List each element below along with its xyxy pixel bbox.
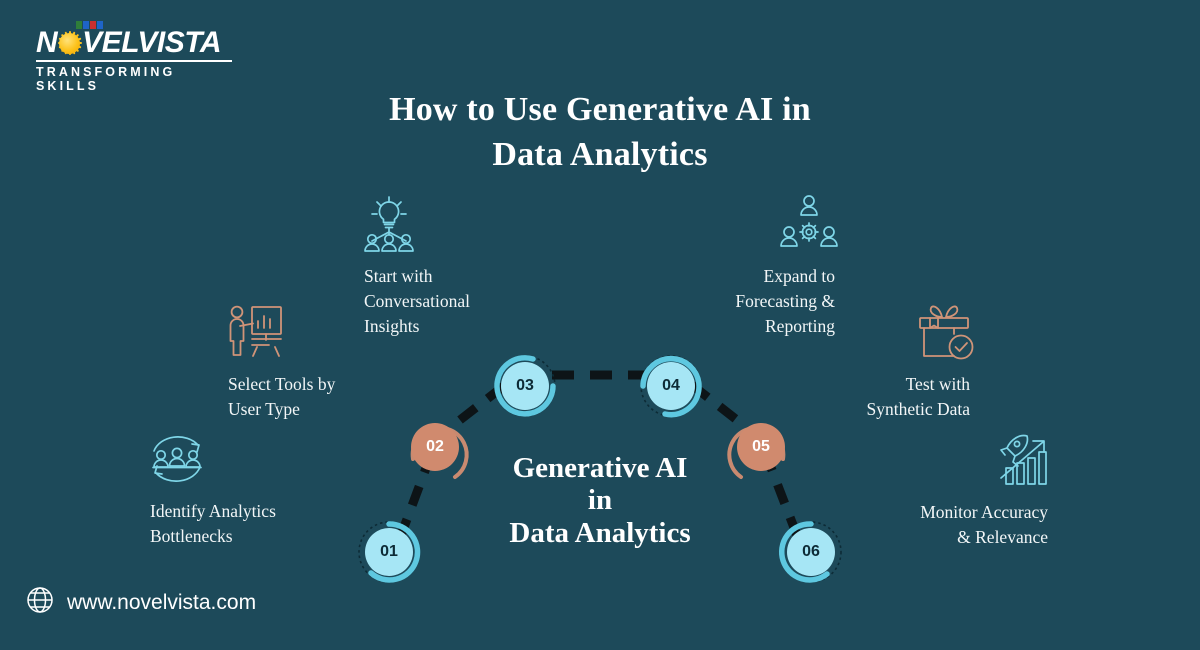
step-label-02: Select Tools by User Type [228,372,458,422]
people-cycle-icon [148,432,206,486]
website-url[interactable]: www.novelvista.com [67,591,256,615]
globe-icon [26,586,54,620]
step-node-01[interactable]: 01 [365,528,413,576]
step-label-01: Identify Analytics Bottlenecks [150,499,380,549]
step-label-03-line3: Insights [364,314,594,339]
step-label-03-line1: Start with [364,264,594,289]
step-label-05-line2: Synthetic Data [790,397,970,422]
step-label-04-line1: Expand to [640,264,835,289]
step-number-01: 01 [380,543,398,561]
infographic-canvas: N VELVISTA TRANSFORMING SKILLS How [0,0,1200,650]
step-label-01-line1: Identify Analytics [150,499,380,524]
step-label-03: Start with Conversational Insights [364,264,594,339]
gift-check-icon [916,303,978,361]
step-node-04[interactable]: 04 [647,362,695,410]
rocket-growth-chart-icon [998,430,1056,486]
footer[interactable]: www.novelvista.com [26,586,256,620]
step-label-03-line2: Conversational [364,289,594,314]
step-label-04-line2: Forecasting & [640,289,835,314]
step-node-06[interactable]: 06 [787,528,835,576]
people-gear-icon [778,192,840,254]
step-label-02-line2: User Type [228,397,458,422]
step-label-04: Expand to Forecasting & Reporting [640,264,835,339]
step-number-04: 04 [662,377,680,395]
step-label-05: Test with Synthetic Data [790,372,970,422]
step-number-06: 06 [802,543,820,561]
center-heading: Generative AI in Data Analytics [430,452,770,549]
step-number-03: 03 [516,377,534,395]
center-heading-line1: Generative AI [430,452,770,484]
step-label-06-line1: Monitor Accuracy [830,500,1048,525]
center-heading-line3: Data Analytics [430,517,770,549]
lightbulb-people-icon [358,192,420,254]
step-node-03[interactable]: 03 [501,362,549,410]
step-label-06-line2: & Relevance [830,525,1048,550]
center-heading-line2: in [430,484,770,516]
step-label-05-line1: Test with [790,372,970,397]
step-label-06: Monitor Accuracy & Relevance [830,500,1048,550]
presenter-chart-icon [224,303,284,361]
step-label-01-line2: Bottlenecks [150,524,380,549]
process-arc [0,0,1200,650]
step-label-04-line3: Reporting [640,314,835,339]
step-label-02-line1: Select Tools by [228,372,458,397]
